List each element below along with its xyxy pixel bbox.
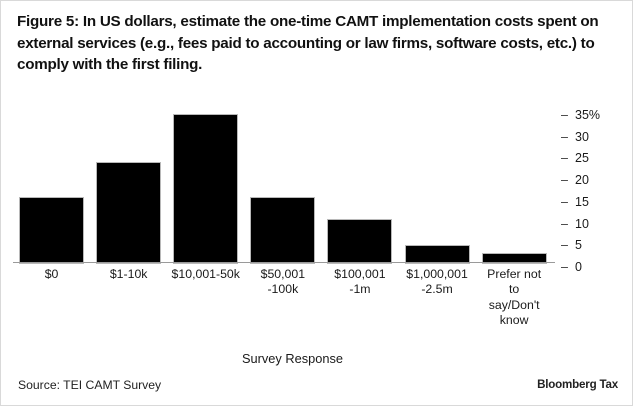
y-axis-tick-label: 30	[575, 129, 589, 145]
figure-title: Figure 5: In US dollars, estimate the on…	[17, 11, 617, 76]
bar-slot	[476, 111, 553, 263]
x-axis-category-label: $1,000,001-2.5m	[399, 267, 476, 298]
bar[interactable]	[406, 246, 469, 263]
x-axis-category-label-line: to	[476, 282, 553, 297]
y-axis-tick-label: 35%	[575, 107, 600, 123]
figure-container: Figure 5: In US dollars, estimate the on…	[0, 0, 633, 406]
y-axis-tick: –15	[561, 194, 589, 210]
x-axis-category-label: $100,001-1m	[321, 267, 398, 298]
y-axis-tick-label: 15	[575, 194, 589, 210]
bar-slot	[90, 111, 167, 263]
chart-plot-area	[13, 111, 553, 263]
bar-slot	[244, 111, 321, 263]
x-axis-category-label: $50,001-100k	[244, 267, 321, 298]
x-axis-category-label-line: $50,001	[244, 267, 321, 282]
y-axis-tick: –25	[561, 150, 589, 166]
x-axis-category-label-line: $100,001	[321, 267, 398, 282]
x-axis-category-label-line: say/Don't	[476, 298, 553, 313]
y-axis-tick-mark-icon: –	[561, 194, 570, 210]
y-axis: –35%–30–25–20–15–10–5–0	[561, 107, 631, 272]
bar[interactable]	[328, 220, 391, 263]
bar[interactable]	[251, 198, 314, 263]
x-axis-category-label-line: -1m	[321, 282, 398, 297]
x-axis-category-labels: $0$1-10k$10,001-50k$50,001-100k$100,001-…	[13, 267, 555, 343]
y-axis-tick: –5	[561, 237, 582, 253]
x-axis-category-label: $0	[13, 267, 90, 282]
x-axis-category-label: $10,001-50k	[167, 267, 244, 282]
y-axis-tick: –35%	[561, 107, 600, 123]
x-axis-category-label: $1-10k	[90, 267, 167, 282]
x-axis-category-label-line: $0	[13, 267, 90, 282]
bar-slot	[167, 111, 244, 263]
bar-slot	[321, 111, 398, 263]
y-axis-tick: –10	[561, 216, 589, 232]
y-axis-tick: –30	[561, 129, 589, 145]
bar-slot	[13, 111, 90, 263]
x-axis-category-label-line: Prefer not	[476, 267, 553, 282]
bar[interactable]	[97, 163, 160, 263]
x-axis-category-label-line: know	[476, 313, 553, 328]
x-axis-category-label-line: $1-10k	[90, 267, 167, 282]
x-axis-category-label-line: -100k	[244, 282, 321, 297]
y-axis-tick-mark-icon: –	[561, 150, 570, 166]
y-axis-tick-mark-icon: –	[561, 259, 570, 275]
x-axis-category-label-line: -2.5m	[399, 282, 476, 297]
bar-slot	[399, 111, 476, 263]
y-axis-tick-label: 25	[575, 150, 589, 166]
x-axis-title: Survey Response	[1, 351, 584, 366]
x-axis-baseline	[13, 262, 555, 263]
y-axis-tick-mark-icon: –	[561, 172, 570, 188]
y-axis-tick: –20	[561, 172, 589, 188]
y-axis-tick: –0	[561, 259, 582, 275]
bar[interactable]	[174, 115, 237, 263]
brand-label: Bloomberg Tax	[537, 378, 618, 391]
y-axis-tick-label: 5	[575, 237, 582, 253]
y-axis-tick-mark-icon: –	[561, 216, 570, 232]
y-axis-tick-label: 20	[575, 172, 589, 188]
x-axis-category-label: Prefer nottosay/Don'tknow	[476, 267, 553, 328]
bar[interactable]	[20, 198, 83, 263]
y-axis-tick-mark-icon: –	[561, 107, 570, 123]
x-axis-category-label-line: $10,001-50k	[167, 267, 244, 282]
y-axis-tick-mark-icon: –	[561, 129, 570, 145]
x-axis-category-label-line: $1,000,001	[399, 267, 476, 282]
y-axis-tick-mark-icon: –	[561, 237, 570, 253]
source-note: Source: TEI CAMT Survey	[18, 378, 161, 392]
y-axis-tick-label: 10	[575, 216, 589, 232]
y-axis-tick-label: 0	[575, 259, 582, 275]
